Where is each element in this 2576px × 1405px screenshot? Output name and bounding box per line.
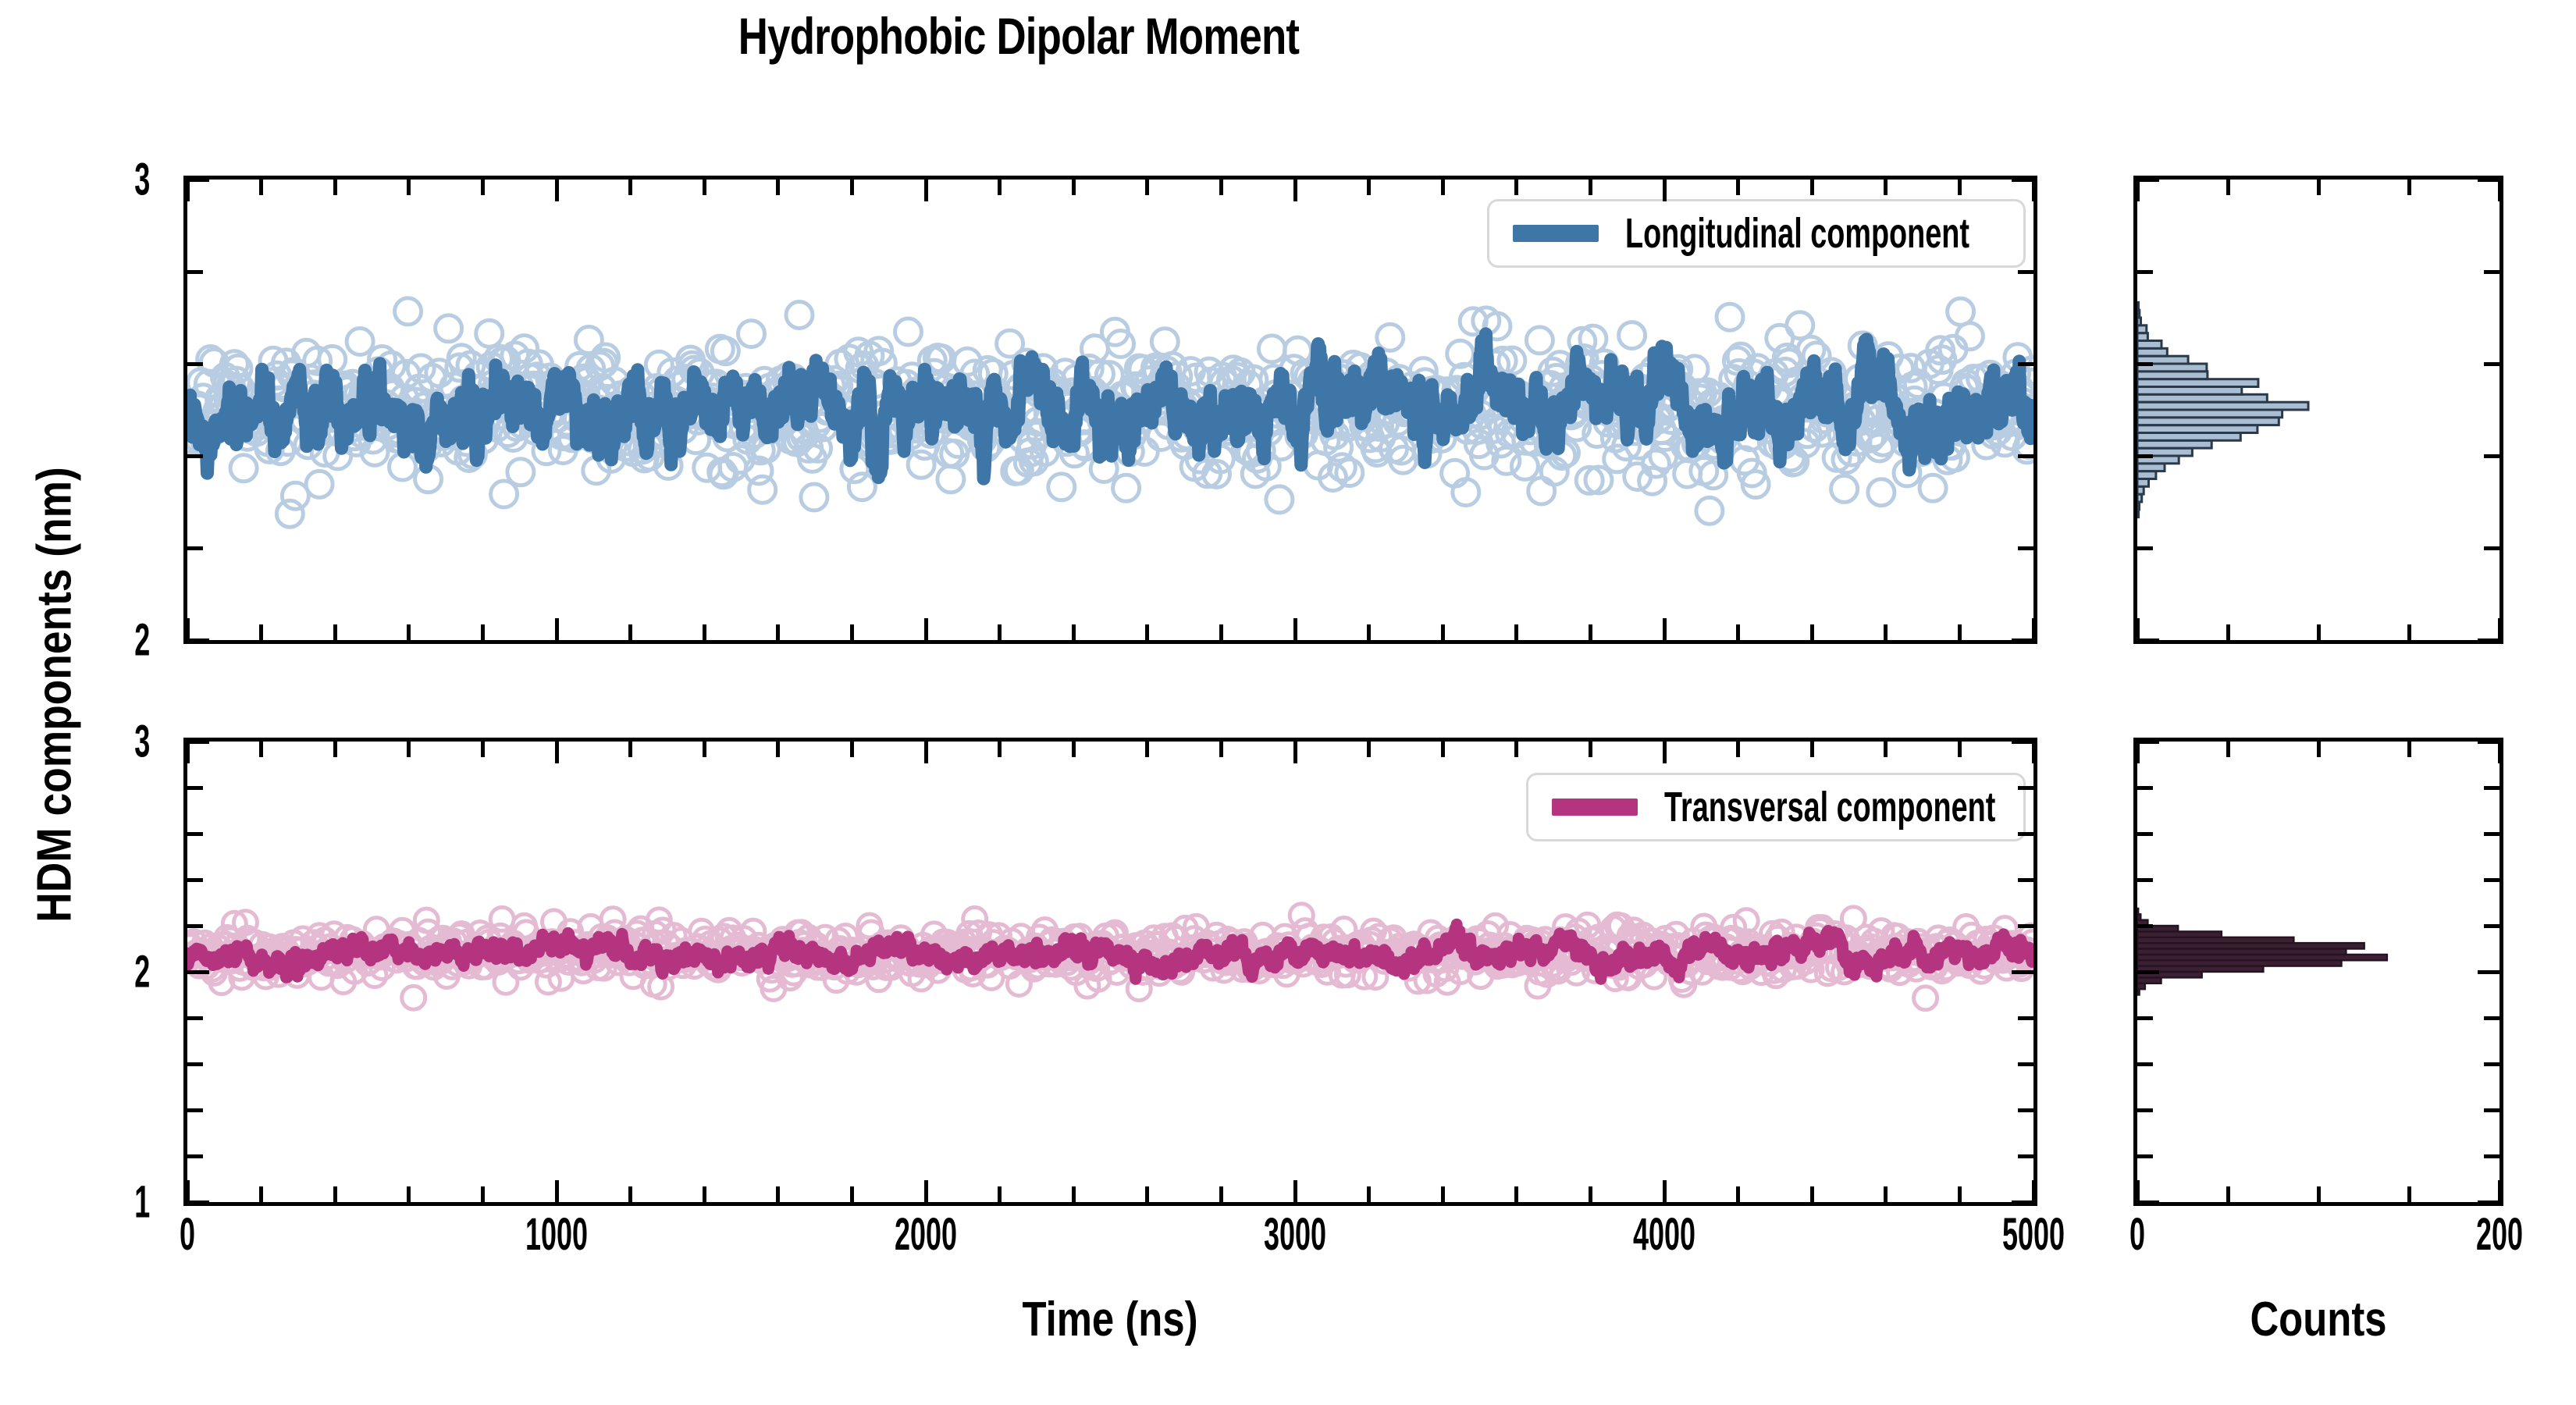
htop-ytick-right-2.6: [2484, 362, 2500, 366]
bot-ylabel-1: 1: [92, 1176, 150, 1229]
hbot-ytick-2.4: [2137, 878, 2153, 882]
hbot-ytick-right-2.4: [2484, 878, 2500, 882]
hbot-ytick-right-1.2: [2484, 1154, 2500, 1158]
htop-ytick-2.8: [2137, 270, 2153, 274]
bot-xtick-3800: [1589, 1186, 1592, 1202]
bot-xtick-2400: [1072, 1186, 1076, 1202]
bot-xtick-top-2000: [924, 742, 928, 763]
top-ytick-2.6: [187, 362, 203, 366]
hbot-xtick-150: [2407, 1186, 2411, 1202]
top-xtick-top-2800: [1219, 180, 1223, 195]
bot-ytick-2.2: [187, 924, 203, 928]
bot-ytick-3: [187, 740, 209, 744]
bot-ytick-right-2.2: [2018, 924, 2033, 928]
hbot-ytick-right-1.4: [2484, 1108, 2500, 1112]
x-axis-title-time: Time (ns): [1022, 1292, 1197, 1347]
bot-xlabel-5000: 5000: [2002, 1208, 2065, 1261]
bot-ytick-right-2.4: [2018, 878, 2033, 882]
htop-xtick-50: [2226, 624, 2230, 640]
bot-ytick-right-2.6: [2018, 832, 2033, 836]
bot-xlabel-1000: 1000: [525, 1208, 588, 1261]
top-xtick-4000: [1663, 618, 1667, 640]
bot-xtick-3200: [1367, 1186, 1371, 1202]
bot-xtick-top-1400: [703, 742, 706, 757]
bot-xtick-1800: [850, 1186, 854, 1202]
bot-xtick-top-5000: [2032, 742, 2036, 763]
top-ylabel-3: 3: [92, 154, 150, 206]
bot-xtick-1200: [628, 1186, 632, 1202]
top-ytick-right-2.2: [2018, 546, 2033, 550]
top-ytick-2.8: [187, 270, 203, 274]
legend-swatch-longitudinal: [1513, 225, 1599, 242]
legend-longitudinal[interactable]: Longitudinal component: [1487, 199, 2026, 268]
top-xtick-3600: [1514, 624, 1518, 640]
bot-xtick-3600: [1514, 1186, 1518, 1202]
bot-ytick-right-2: [2012, 970, 2033, 974]
htop-ytick-right-2: [2478, 638, 2500, 642]
bot-ytick-2.8: [187, 786, 203, 790]
bot-xtick-top-3400: [1441, 742, 1445, 757]
top-xtick-1400: [703, 624, 706, 640]
bot-ytick-1.4: [187, 1108, 203, 1112]
htop-ytick-2: [2137, 638, 2159, 642]
bot-xtick-top-800: [481, 742, 485, 757]
htop-xtick-100: [2317, 624, 2321, 640]
top-ytick-right-2: [2012, 638, 2033, 642]
top-xtick-top-4800: [1958, 180, 1962, 195]
top-xtick-top-3400: [1441, 180, 1445, 195]
htop-xtick-0: [2136, 618, 2140, 640]
bot-xtick-200: [259, 1186, 263, 1202]
x-axis-title-counts: Counts: [2250, 1292, 2386, 1347]
htop-ytick-2.2: [2137, 546, 2153, 550]
top-xtick-top-5000: [2032, 180, 2036, 201]
bot-xlabel-3000: 3000: [1264, 1208, 1326, 1261]
bot-xtick-top-400: [333, 742, 337, 757]
top-xtick-3400: [1441, 624, 1445, 640]
top-xtick-top-600: [407, 180, 411, 195]
legend-label-transversal: Transversal component: [1664, 783, 1995, 831]
hbot-ytick-right-2.6: [2484, 832, 2500, 836]
bot-xlabel-0: 0: [180, 1208, 195, 1261]
hbot-xtick-top-0: [2136, 742, 2140, 763]
bot-xtick-top-200: [259, 742, 263, 757]
top-xtick-top-4200: [1736, 180, 1740, 195]
top-xtick-top-4000: [1663, 180, 1667, 201]
bot-ytick-2: [187, 970, 209, 974]
top-xtick-top-2600: [1145, 180, 1149, 195]
plot-area-longitudinal-hist: [2137, 180, 2500, 640]
panel-transversal-histogram: [2133, 738, 2503, 1206]
hbot-xtick-100: [2317, 1186, 2321, 1202]
hbot-ytick-right-1: [2478, 1200, 2500, 1204]
bot-ytick-1: [187, 1200, 209, 1204]
hbot-ytick-2: [2137, 970, 2159, 974]
bot-ytick-1.2: [187, 1154, 203, 1158]
bot-xtick-top-3200: [1367, 742, 1371, 757]
top-xtick-5000: [2032, 618, 2036, 640]
legend-swatch-transversal: [1552, 799, 1638, 816]
hbot-ytick-right-2: [2478, 970, 2500, 974]
hbot-ytick-2.6: [2137, 832, 2153, 836]
top-ytick-right-2.8: [2018, 270, 2033, 274]
legend-transversal[interactable]: Transversal component: [1526, 773, 2026, 841]
hbot-xlabel-0: 0: [2129, 1208, 2145, 1261]
htop-xtick-150: [2407, 624, 2411, 640]
bot-xtick-2600: [1145, 1186, 1149, 1202]
top-xtick-1800: [850, 624, 854, 640]
hbot-ytick-right-1.8: [2484, 1016, 2500, 1020]
hbot-xtick-0: [2136, 1180, 2140, 1202]
top-xtick-600: [407, 624, 411, 640]
hbot-ytick-right-2.8: [2484, 786, 2500, 790]
bot-xtick-5000: [2032, 1180, 2036, 1202]
htop-ytick-right-3: [2478, 178, 2500, 182]
hbot-xlabel-200: 200: [2476, 1208, 2523, 1261]
top-xtick-1000: [555, 618, 559, 640]
htop-xtick-top-100: [2317, 180, 2321, 195]
hbot-ytick-1.4: [2137, 1108, 2153, 1112]
top-xtick-top-3000: [1293, 180, 1297, 201]
bot-ylabel-3: 3: [92, 716, 150, 768]
hbot-ytick-2.2: [2137, 924, 2153, 928]
top-xtick-top-4600: [1884, 180, 1888, 195]
bot-ytick-1.6: [187, 1062, 203, 1066]
htop-ytick-right-2.2: [2484, 546, 2500, 550]
top-xtick-top-800: [481, 180, 485, 195]
bot-xtick-top-1000: [555, 742, 559, 763]
bot-xtick-1000: [555, 1180, 559, 1202]
htop-xtick-top-0: [2136, 180, 2140, 201]
top-ylabel-2: 2: [92, 614, 150, 667]
top-xtick-4600: [1884, 624, 1888, 640]
htop-ytick-2.6: [2137, 362, 2153, 366]
top-xtick-400: [333, 624, 337, 640]
top-ytick-right-2.6: [2018, 362, 2033, 366]
top-xtick-top-2400: [1072, 180, 1076, 195]
htop-ytick-right-2.4: [2484, 454, 2500, 458]
bot-ytick-1.8: [187, 1016, 203, 1020]
panel-longitudinal-histogram: [2133, 176, 2503, 644]
top-ytick-2.4: [187, 454, 203, 458]
hbot-ytick-1.2: [2137, 1154, 2153, 1158]
top-ytick-2.2: [187, 546, 203, 550]
y-axis-label-text: HDM components (nm): [27, 467, 83, 923]
legend-label-longitudinal: Longitudinal component: [1625, 209, 1969, 258]
y-axis-label: HDM components (nm): [23, 195, 86, 1194]
hbot-xtick-top-200: [2498, 742, 2502, 763]
bot-xtick-top-4200: [1736, 742, 1740, 757]
bot-ytick-right-1.4: [2018, 1108, 2033, 1112]
top-xtick-200: [259, 624, 263, 640]
top-xtick-4800: [1958, 624, 1962, 640]
top-xtick-1600: [776, 624, 780, 640]
top-xtick-0: [186, 618, 190, 640]
bot-xlabel-4000: 4000: [1633, 1208, 1695, 1261]
bot-xtick-top-1200: [628, 742, 632, 757]
hbot-xtick-50: [2226, 1186, 2230, 1202]
top-ytick-right-3: [2012, 178, 2033, 182]
bot-ytick-right-3: [2012, 740, 2033, 744]
top-xtick-3000: [1293, 618, 1297, 640]
bot-xtick-top-600: [407, 742, 411, 757]
bot-xtick-2200: [998, 1186, 1002, 1202]
hbot-xtick-top-50: [2226, 742, 2230, 757]
top-xtick-top-1400: [703, 180, 706, 195]
transversal-hist-layer: [2137, 742, 2500, 1202]
top-xtick-top-1800: [850, 180, 854, 195]
hbot-xtick-200: [2498, 1180, 2502, 1202]
top-xtick-2200: [998, 624, 1002, 640]
htop-xtick-200: [2498, 618, 2502, 640]
bot-xtick-top-3600: [1514, 742, 1518, 757]
bot-ytick-right-1.8: [2018, 1016, 2033, 1020]
bot-xtick-top-1600: [776, 742, 780, 757]
bot-xtick-4200: [1736, 1186, 1740, 1202]
top-xtick-3200: [1367, 624, 1371, 640]
top-xtick-top-400: [333, 180, 337, 195]
bot-xtick-0: [186, 1180, 190, 1202]
bot-ytick-right-2.8: [2018, 786, 2033, 790]
hbot-ytick-right-3: [2478, 740, 2500, 744]
top-xtick-2000: [924, 618, 928, 640]
bot-xtick-top-3800: [1589, 742, 1592, 757]
hbot-ytick-3: [2137, 740, 2159, 744]
plot-area-transversal-hist: [2137, 742, 2500, 1202]
top-xtick-top-1600: [776, 180, 780, 195]
hbot-ytick-right-1.6: [2484, 1062, 2500, 1066]
bot-xtick-4800: [1958, 1186, 1962, 1202]
bot-xtick-600: [407, 1186, 411, 1202]
top-xtick-top-2000: [924, 180, 928, 201]
bot-xtick-4600: [1884, 1186, 1888, 1202]
top-xtick-1200: [628, 624, 632, 640]
hbot-ytick-1.6: [2137, 1062, 2153, 1066]
top-xtick-top-4400: [1810, 180, 1814, 195]
bot-xtick-3000: [1293, 1180, 1297, 1202]
figure-root: Hydrophobic Dipolar Moment HDM component…: [0, 0, 2576, 1405]
hbot-ytick-right-2.2: [2484, 924, 2500, 928]
bot-xtick-top-0: [186, 742, 190, 763]
hbot-xtick-top-150: [2407, 742, 2411, 757]
longitudinal-hist-layer: [2137, 180, 2500, 640]
bot-xtick-top-3000: [1293, 742, 1297, 763]
htop-ytick-3: [2137, 178, 2159, 182]
bot-xtick-800: [481, 1186, 485, 1202]
hbot-xtick-top-100: [2317, 742, 2321, 757]
top-xtick-4400: [1810, 624, 1814, 640]
top-xtick-2600: [1145, 624, 1149, 640]
bot-ytick-right-1.2: [2018, 1154, 2033, 1158]
top-ytick-right-2.4: [2018, 454, 2033, 458]
htop-xtick-top-200: [2498, 180, 2502, 201]
bot-xtick-top-2200: [998, 742, 1002, 757]
htop-ytick-right-2.8: [2484, 270, 2500, 274]
bot-xtick-top-2800: [1219, 742, 1223, 757]
figure-title: Hydrophobic Dipolar Moment: [204, 6, 1834, 66]
top-xtick-top-3800: [1589, 180, 1592, 195]
bot-xtick-top-4600: [1884, 742, 1888, 757]
top-xtick-top-0: [186, 180, 190, 201]
bot-xlabel-2000: 2000: [895, 1208, 957, 1261]
bot-xtick-2000: [924, 1180, 928, 1202]
bot-xtick-400: [333, 1186, 337, 1202]
top-xtick-3800: [1589, 624, 1592, 640]
bot-xtick-1600: [776, 1186, 780, 1202]
bot-xtick-top-4400: [1810, 742, 1814, 757]
top-xtick-top-1200: [628, 180, 632, 195]
bot-ytick-2.6: [187, 832, 203, 836]
bot-xtick-top-4800: [1958, 742, 1962, 757]
bot-ytick-right-1: [2012, 1200, 2033, 1204]
top-xtick-4200: [1736, 624, 1740, 640]
htop-xtick-top-50: [2226, 180, 2230, 195]
hbot-ytick-1: [2137, 1200, 2159, 1204]
top-xtick-2400: [1072, 624, 1076, 640]
bot-xtick-top-2600: [1145, 742, 1149, 757]
top-xtick-top-3200: [1367, 180, 1371, 195]
bot-xtick-top-2400: [1072, 742, 1076, 757]
bot-xtick-4400: [1810, 1186, 1814, 1202]
bot-ylabel-2: 2: [92, 946, 150, 998]
bot-xtick-top-1800: [850, 742, 854, 757]
hbot-ytick-1.8: [2137, 1016, 2153, 1020]
top-xtick-top-2200: [998, 180, 1002, 195]
top-xtick-top-3600: [1514, 180, 1518, 195]
htop-ytick-2.4: [2137, 454, 2153, 458]
bot-xtick-3400: [1441, 1186, 1445, 1202]
bot-xtick-4000: [1663, 1180, 1667, 1202]
bot-xtick-top-4000: [1663, 742, 1667, 763]
top-xtick-2800: [1219, 624, 1223, 640]
bot-xtick-1400: [703, 1186, 706, 1202]
bot-xtick-2800: [1219, 1186, 1223, 1202]
top-ytick-3: [187, 178, 209, 182]
htop-xtick-top-150: [2407, 180, 2411, 195]
hbot-ytick-2.8: [2137, 786, 2153, 790]
top-xtick-top-200: [259, 180, 263, 195]
bot-ytick-2.4: [187, 878, 203, 882]
top-xtick-800: [481, 624, 485, 640]
bot-ytick-right-1.6: [2018, 1062, 2033, 1066]
top-xtick-top-1000: [555, 180, 559, 201]
top-ytick-2: [187, 638, 209, 642]
